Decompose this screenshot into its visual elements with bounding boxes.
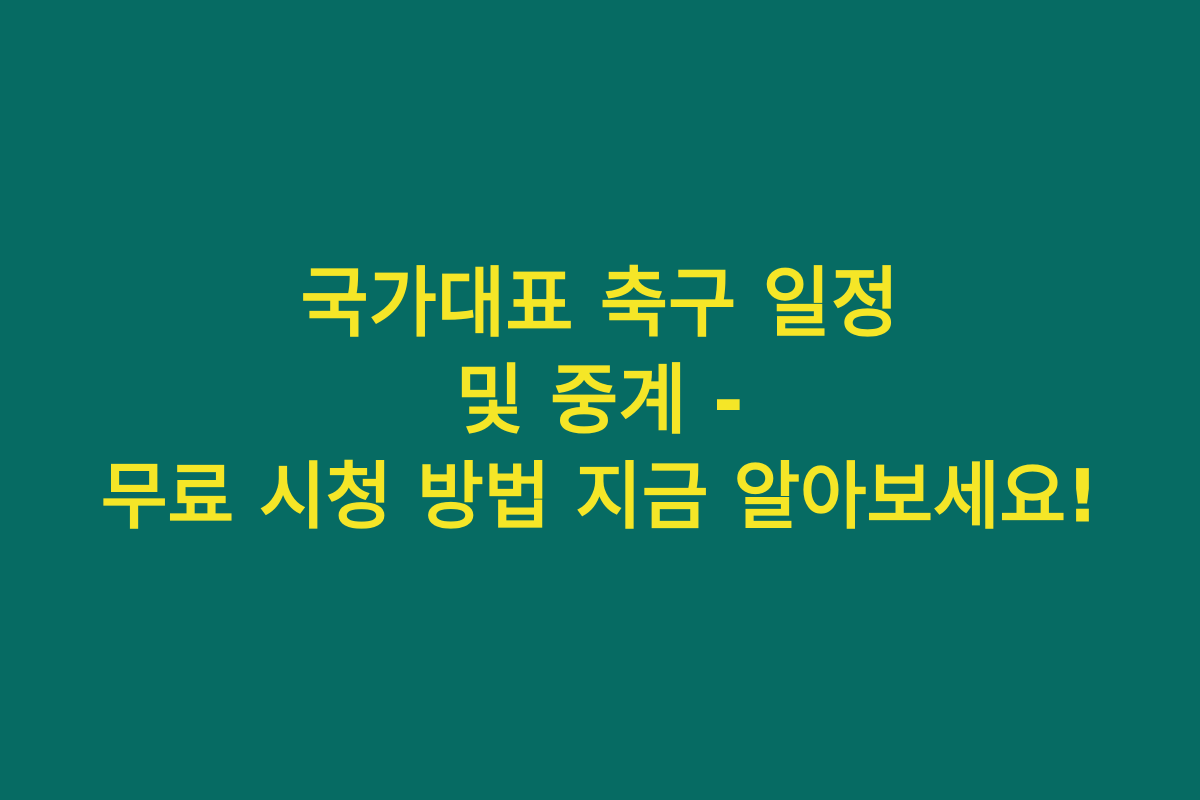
title-line-3: 무료 시청 방법 지금 알아보세요!	[6, 448, 1194, 545]
page-title: 국가대표 축구 일정 및 중계 - 무료 시청 방법 지금 알아보세요!	[0, 254, 1200, 545]
title-card-banner: 국가대표 축구 일정 및 중계 - 무료 시청 방법 지금 알아보세요!	[0, 0, 1200, 800]
title-line-1: 국가대표 축구 일정	[18, 254, 1182, 351]
title-line-2: 및 중계 -	[18, 351, 1182, 448]
